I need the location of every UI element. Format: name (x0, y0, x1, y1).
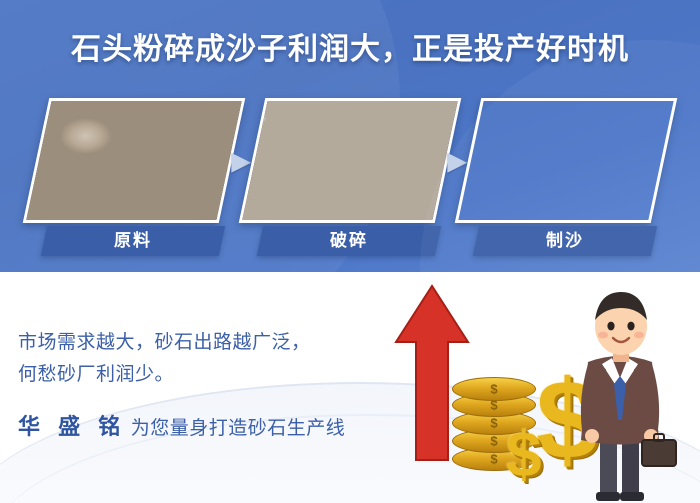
step-caption-2-label: 破碎 (260, 226, 438, 256)
step-caption-3-label: 制沙 (476, 226, 654, 256)
coin-symbol: $ (490, 382, 497, 397)
top-blue-panel: 石头粉碎成沙子利润大，正是投产好时机 原料 ▶ 破碎 (0, 0, 700, 272)
bottom-panel: 市场需求越大，砂石出路越广泛， 何愁砂厂利润少。 华 盛 铭 为您量身打造砂石生… (0, 272, 700, 503)
promo-poster: 石头粉碎成沙子利润大，正是投产好时机 原料 ▶ 破碎 (0, 0, 700, 503)
brand-tagline: 为您量身打造砂石生产线 (131, 418, 346, 439)
brand-line: 华 盛 铭 为您量身打造砂石生产线 (18, 409, 378, 441)
coin-symbol: $ (490, 434, 497, 449)
copy-line-2: 何愁砂厂利润少。 (18, 359, 378, 391)
sand-making-photo (455, 98, 678, 223)
brand-name: 华 盛 铭 (18, 414, 126, 439)
page-title: 石头粉碎成沙子利润大，正是投产好时机 (0, 24, 700, 68)
step-caption-1: 原料 (41, 226, 225, 256)
step-caption-3: 制沙 (473, 226, 657, 256)
marketing-copy: 市场需求越大，砂石出路越广泛， 何愁砂厂利润少。 华 盛 铭 为您量身打造砂石生… (18, 327, 378, 441)
step-caption-1-label: 原料 (44, 226, 222, 256)
coin-symbol: $ (490, 416, 497, 431)
sand-texture (455, 98, 678, 223)
step-item-2: 破碎 (252, 98, 448, 223)
crushing-photo (239, 98, 462, 223)
gravel-texture (239, 98, 462, 223)
copy-line-1: 市场需求越大，砂石出路越广泛， (18, 327, 378, 359)
step-caption-2: 破碎 (257, 226, 441, 256)
raw-material-photo (23, 98, 246, 223)
step-item-3: 制沙 (468, 98, 664, 223)
dollar-sign-small-icon: $ (506, 422, 542, 486)
step-item-1: 原料 (36, 98, 232, 223)
coin-symbol: $ (490, 452, 497, 467)
chevron-right-icon-2: ▶ (444, 150, 470, 174)
coin: $ (452, 377, 536, 401)
pebbles-texture (23, 98, 246, 223)
businessman-illustration (556, 284, 686, 503)
process-steps: 原料 ▶ 破碎 ▶ 制沙 (0, 98, 700, 258)
